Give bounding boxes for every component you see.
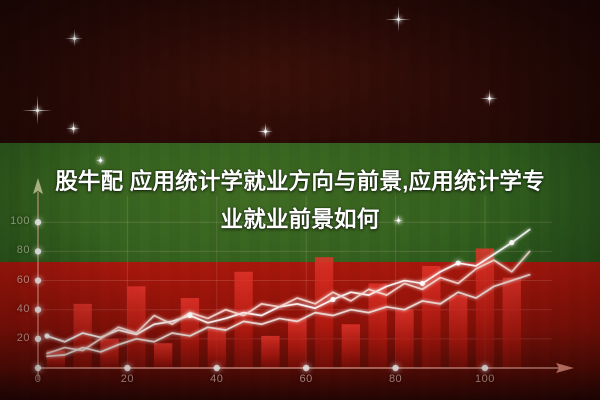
x-axis-tick-label: 60 [286,373,326,385]
x-axis-tick-label: 40 [197,373,237,385]
x-axis-tick-label: 80 [376,373,416,385]
x-axis-tick-label: 100 [465,373,505,385]
y-axis-tick-label: 40 [0,303,30,315]
y-axis-tick-label: 60 [0,274,30,286]
y-axis-tick-label: 20 [0,332,30,344]
page-title: 股牛配 应用统计学就业方向与前景,应用统计学专 业就业前景如何 [0,163,600,239]
x-axis-tick-label: 0 [18,373,58,385]
x-axis-tick-label: 20 [107,373,147,385]
title-line-2: 业就业前景如何 [0,201,600,239]
chart-markers [44,240,514,338]
title-line-1: 股牛配 应用统计学就业方向与前景,应用统计学专 [0,163,600,201]
banner-image: 20406080100020406080100 股牛配 应用统计学就业方向与前景… [0,0,600,400]
y-axis-tick-label: 80 [0,244,30,256]
